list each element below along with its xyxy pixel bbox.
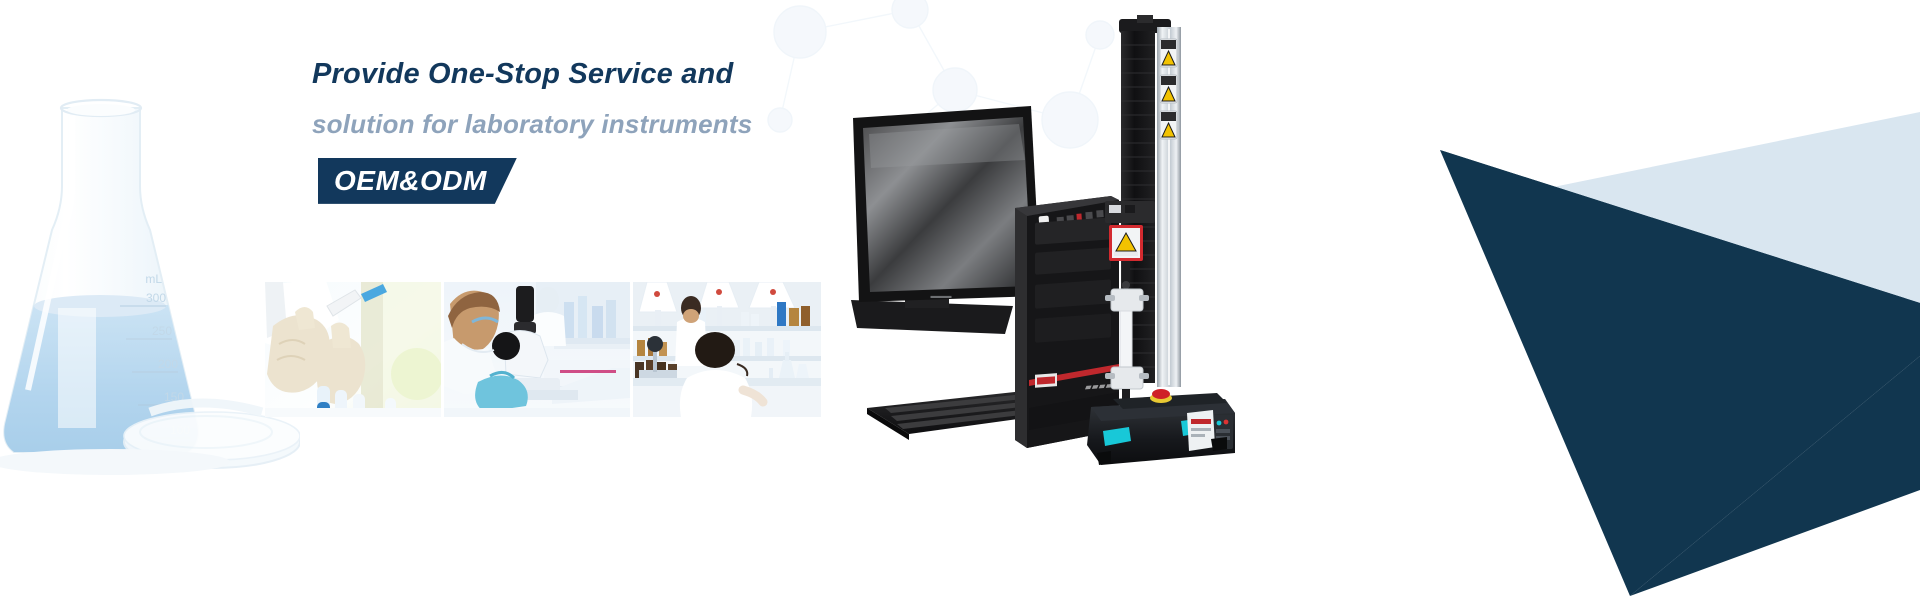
photo-scientist-microscope xyxy=(444,282,630,417)
lab-photo-strip xyxy=(265,282,821,417)
photo-pipetting-gloved-hands xyxy=(265,282,441,417)
computer-workstation: ▬▬▬ xyxy=(845,10,1305,470)
lcd-monitor: ▬▬▬ xyxy=(851,106,1041,334)
flask-scene: mL 300 250 200 150 100 xyxy=(0,90,300,510)
oem-odm-badge: OEM&ODM xyxy=(318,158,517,204)
svg-text:mL: mL xyxy=(145,272,162,286)
svg-text:300: 300 xyxy=(146,291,166,305)
promo-banner: mL 300 250 200 150 100 Provide O xyxy=(0,0,1920,597)
svg-text:▬▬▬: ▬▬▬ xyxy=(931,293,952,300)
machine-base xyxy=(1087,389,1235,465)
svg-text:200: 200 xyxy=(158,357,178,371)
universal-tensile-testing-machine xyxy=(1085,15,1235,465)
svg-text:250: 250 xyxy=(152,324,172,338)
photo-lab-technicians-benchwork xyxy=(633,282,821,417)
hazard-warning-labels xyxy=(1160,39,1177,139)
